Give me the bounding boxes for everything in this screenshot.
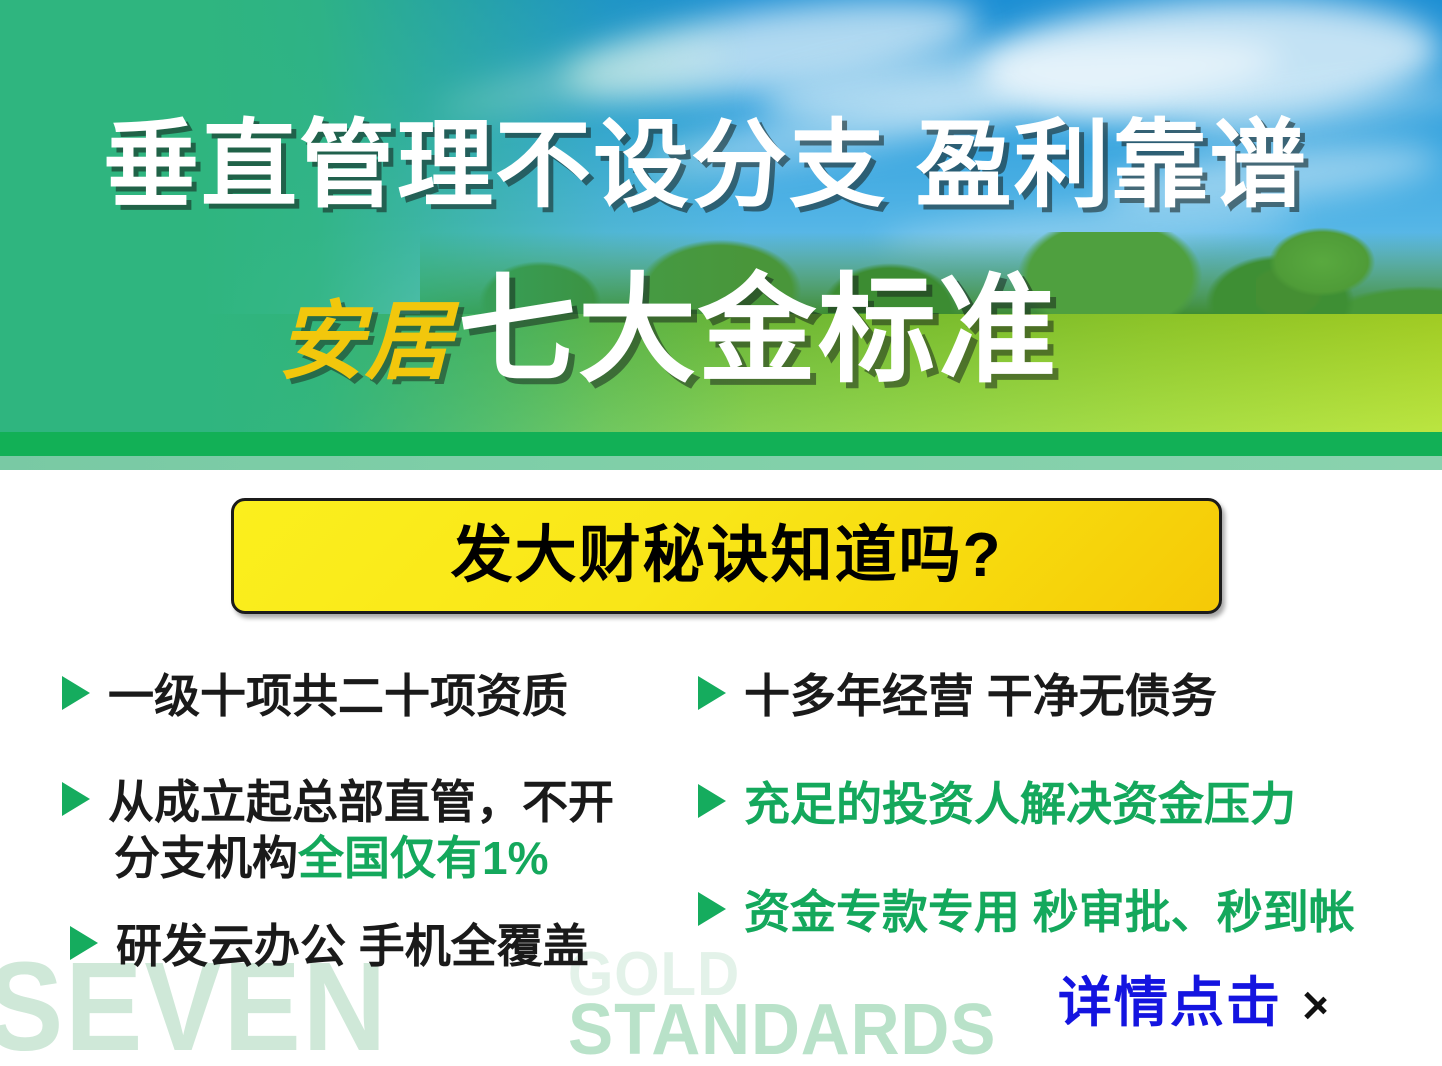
feature-text-plain: 分支机构 [114,832,298,884]
triangle-bullet-icon [698,892,726,926]
hero-headline-main-text: 七大金标准 [458,265,1058,397]
green-gradient-overlay [0,0,1442,470]
chevron-right-icon [1304,981,1330,1025]
highlight-question-banner[interactable]: 发大财秘诀知道吗? [231,498,1222,614]
hero-headline-secondary: 安居七大金标准 [278,272,1058,390]
feature-text-line2: 分支机构全国仅有1% [114,830,614,886]
hero-headline-primary: 垂直管理不设分支 盈利靠谱 [103,118,1308,214]
feature-text: 一级十项共二十项资质 [108,668,568,724]
triangle-bullet-icon [62,676,90,710]
feature-item-right-3: 资金专款专用 秒审批、秒到帐 [698,884,1355,940]
triangle-bullet-icon [62,782,90,816]
hero-banner: 垂直管理不设分支 盈利靠谱 安居七大金标准 [0,0,1442,470]
feature-text: 资金专款专用 秒审批、秒到帐 [744,884,1355,940]
feature-item-left-1: 一级十项共二十项资质 [62,668,568,724]
feature-text-highlight: 全国仅有1% [298,832,548,884]
watermark-gold-text: GOLD [568,944,740,1006]
triangle-bullet-icon [698,784,726,818]
triangle-bullet-icon [70,926,98,960]
feature-item-right-2: 充足的投资人解决资金压力 [698,776,1296,832]
feature-text: 充足的投资人解决资金压力 [744,776,1296,832]
brand-name-text: 安居 [278,294,452,390]
watermark-standards-text: STANDARDS [568,994,996,1066]
feature-text: 十多年经营 干净无债务 [744,668,1217,724]
hero-green-bar [0,432,1442,456]
triangle-bullet-icon [698,676,726,710]
promo-poster: 垂直管理不设分支 盈利靠谱 安居七大金标准 发大财秘诀知道吗? SEVEN GO… [0,0,1442,1066]
feature-text-line1: 从成立起总部直管，不开 [108,776,614,828]
feature-item-left-2: 从成立起总部直管，不开 分支机构全国仅有1% [62,774,614,886]
details-cta-link[interactable]: 详情点击 [1058,976,1330,1030]
feature-item-right-1: 十多年经营 干净无债务 [698,668,1217,724]
hero-light-strip [0,456,1442,470]
feature-text: 从成立起总部直管，不开 分支机构全国仅有1% [108,774,614,886]
cta-label: 详情点击 [1058,976,1282,1030]
question-text: 发大财秘诀知道吗? [451,525,1003,587]
feature-item-left-3: 研发云办公 手机全覆盖 [70,918,589,974]
feature-text: 研发云办公 手机全覆盖 [116,918,589,974]
